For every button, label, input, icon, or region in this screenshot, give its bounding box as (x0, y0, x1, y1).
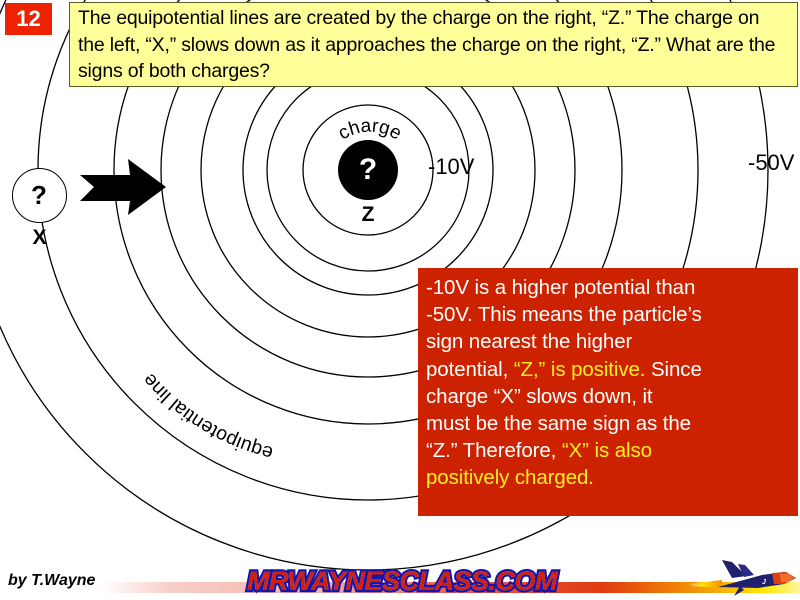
charge-x-dot: ? (12, 168, 67, 223)
jet-rocket-icon: J (688, 558, 800, 600)
motion-arrow-icon (78, 155, 168, 220)
answer-run: potential, (426, 358, 514, 381)
answer-line: charge “X” slows down, it (426, 383, 790, 410)
answer-run: -10V is a higher potential than (426, 276, 695, 299)
outer-voltage-label: -50V (748, 150, 794, 176)
answer-highlight-run: positively charged. (426, 466, 594, 489)
answer-run: charge “X” slows down, it (426, 385, 653, 408)
charge-z-dot: ? (338, 140, 398, 200)
answer-line: positively charged. (426, 464, 790, 491)
answer-run: must be the same sign as the (426, 412, 691, 435)
equipotential-line-caption: equipotential line (40, 240, 320, 470)
answer-line: must be the same sign as the (426, 410, 790, 437)
question-box: The equipotential lines are created by t… (69, 2, 798, 87)
byline: by T.Wayne (8, 572, 95, 590)
answer-highlight-run: “Z,” is positive. (514, 358, 646, 381)
answer-run: -50V. This means the particle’s (426, 303, 702, 326)
answer-run: “Z.” Therefore, (426, 439, 562, 462)
answer-highlight-run: “X” is also (562, 439, 652, 462)
question-number-badge: 12 (5, 3, 52, 35)
charge-z-question-mark: ? (338, 140, 398, 200)
answer-run: sign nearest the higher (426, 330, 632, 353)
answer-text: -10V is a higher potential than-50V. Thi… (426, 274, 790, 492)
answer-line: -50V. This means the particle’s (426, 301, 790, 328)
answer-line: -10V is a higher potential than (426, 274, 790, 301)
equipotential-caption-text: equipotential line (138, 369, 275, 464)
answer-line: “Z.” Therefore, “X” is also (426, 437, 790, 464)
charge-z-label: Z (338, 203, 398, 227)
answer-line: sign nearest the higher (426, 328, 790, 355)
answer-line: potential, “Z,” is positive. Since (426, 356, 790, 383)
inner-voltage-label: -10V (428, 154, 474, 180)
site-logo-text-fill: MRWAYNESCLASS.COM (247, 566, 558, 596)
answer-box: -10V is a higher potential than-50V. Thi… (418, 268, 798, 516)
charge-x-question-mark: ? (13, 169, 65, 221)
slide-canvas: 12 The equipotential lines are created b… (0, 0, 800, 600)
svg-text:equipotential line: equipotential line (138, 369, 275, 464)
answer-run: Since (645, 358, 701, 381)
site-logo: MRWAYNESCLASS.COM MRWAYNESCLASS.COM (222, 564, 582, 598)
